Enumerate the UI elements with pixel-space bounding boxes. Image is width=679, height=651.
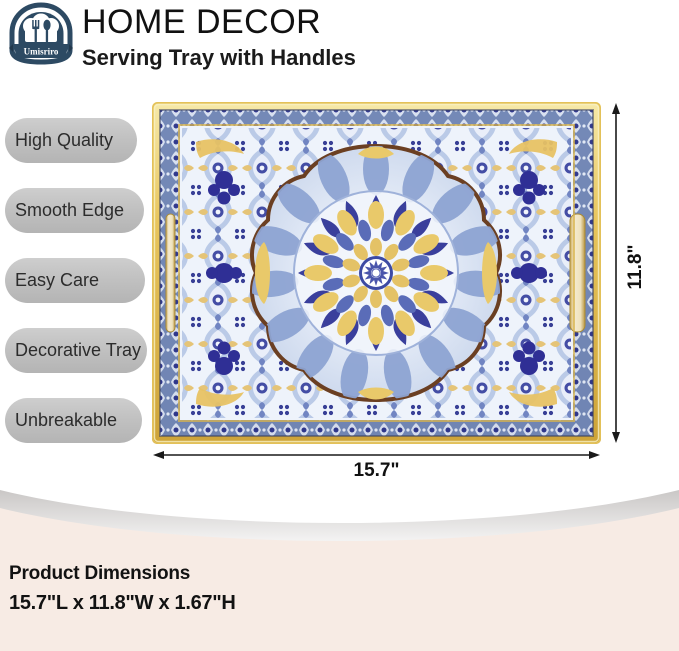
product-image-tray <box>152 102 601 444</box>
feature-pill-label: Decorative Tray <box>15 340 141 361</box>
handle-slot-right <box>570 214 585 332</box>
feature-pill-label: High Quality <box>15 130 113 151</box>
product-dimensions-heading: Product Dimensions <box>9 562 509 586</box>
product-infographic: Umisriro HOME DECOR Serving Tray with Ha… <box>0 0 679 651</box>
dimension-height: 11.8" <box>604 102 676 444</box>
feature-pill-easy-care: Easy Care <box>5 258 145 303</box>
product-dimensions-value: 15.7"L x 11.8"W x 1.67"H <box>9 590 509 616</box>
brand-subtitle: Serving Tray with Handles <box>82 44 356 72</box>
width-label: 15.7" <box>152 460 601 482</box>
tray-illustration <box>152 102 601 444</box>
chef-hat-fork-spoon-badge-icon: Umisriro <box>7 2 75 68</box>
feature-pill-smooth-edge: Smooth Edge <box>5 188 144 233</box>
feature-pill-label: Smooth Edge <box>15 200 124 221</box>
feature-pill-decorative-tray: Decorative Tray <box>5 328 147 373</box>
product-dimensions-block: Product Dimensions 15.7"L x 11.8"W x 1.6… <box>9 562 509 616</box>
feature-pill-label: Unbreakable <box>15 410 117 431</box>
header: Umisriro HOME DECOR Serving Tray with Ha… <box>0 0 679 92</box>
brand-title: HOME DECOR <box>82 2 321 42</box>
height-label: 11.8" <box>625 207 647 327</box>
brand-logo: Umisriro <box>7 2 75 68</box>
handle-slot-left <box>166 214 175 332</box>
feature-pill-label: Easy Care <box>15 270 99 291</box>
dimension-width: 15.7" <box>152 446 601 486</box>
logo-banner-text: Umisriro <box>24 47 59 57</box>
feature-pill-high-quality: High Quality <box>5 118 137 163</box>
feature-pill-unbreakable: Unbreakable <box>5 398 142 443</box>
